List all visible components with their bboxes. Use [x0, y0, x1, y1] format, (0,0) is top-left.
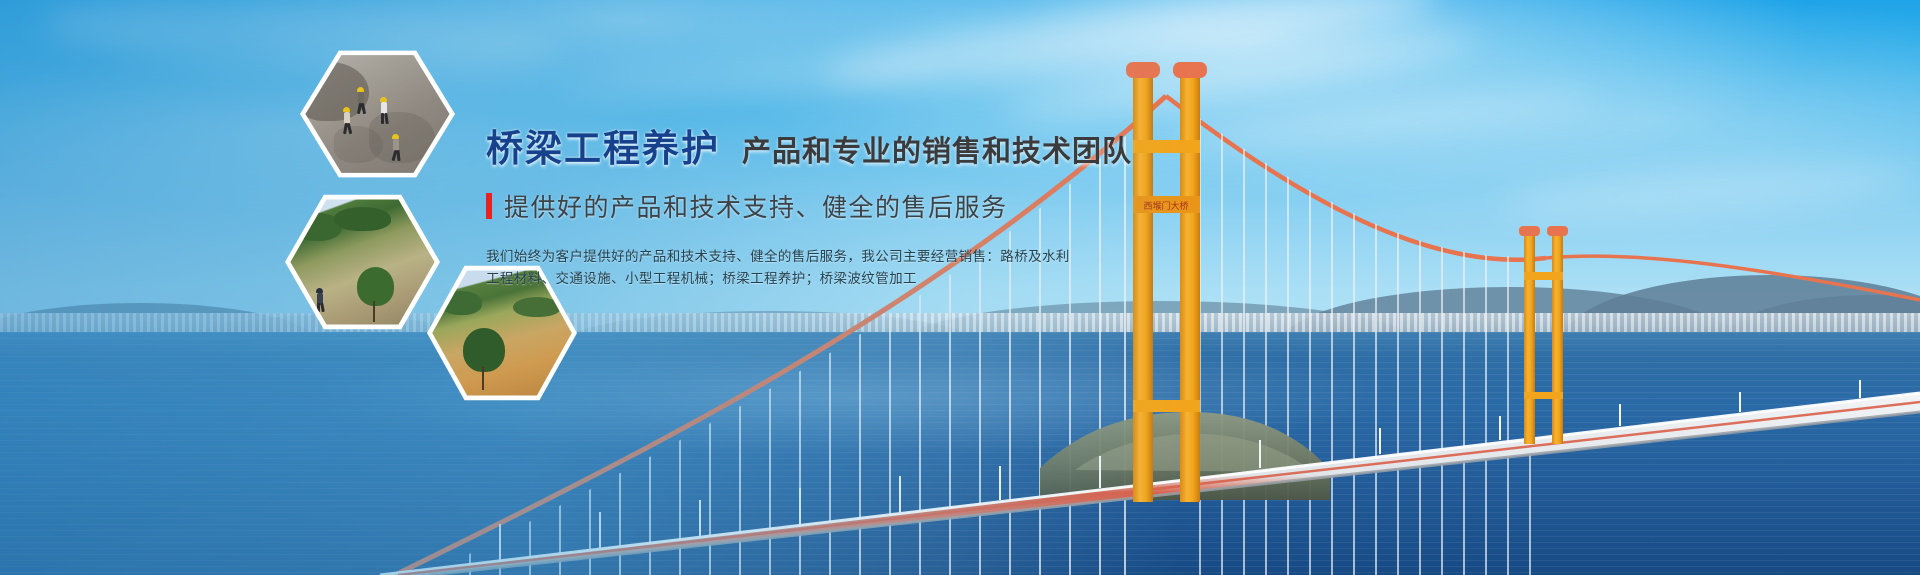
- photo-green-slope-mesh: [290, 197, 434, 327]
- subheadline-row: 提供好的产品和技术支持、健全的售后服务: [486, 188, 1246, 224]
- description-paragraph: 我们始终为客户提供好的产品和技术支持、健全的售后服务，我公司主要经营销售：路桥及…: [486, 246, 1086, 290]
- headline-primary: 桥梁工程养护: [486, 118, 720, 172]
- headline-secondary: 产品和专业的销售和技术团队: [742, 128, 1132, 170]
- hex-photo-green-slope[interactable]: [285, 192, 440, 332]
- main-cable-right: [1546, 256, 1920, 300]
- accent-bar: [486, 193, 492, 219]
- photo-rock-slope-mesh: [305, 53, 449, 176]
- subheadline-text: 提供好的产品和技术支持、健全的售后服务: [504, 188, 1008, 224]
- hex-photo-rock-slope[interactable]: [300, 48, 455, 180]
- description-line-1: 我们始终为客户提供好的产品和技术支持、健全的售后服务，我公司主要经营销售：路桥及…: [486, 246, 1086, 268]
- headline-row: 桥梁工程养护 产品和专业的销售和技术团队: [486, 118, 1246, 172]
- banner-text-block: 桥梁工程养护 产品和专业的销售和技术团队 提供好的产品和技术支持、健全的售后服务…: [486, 118, 1246, 290]
- description-line-2: 工程材料、交通设施、小型工程机械；桥梁工程养护；桥梁波纹管加工: [486, 268, 1086, 290]
- hero-banner: 西堠门大桥: [0, 0, 1920, 575]
